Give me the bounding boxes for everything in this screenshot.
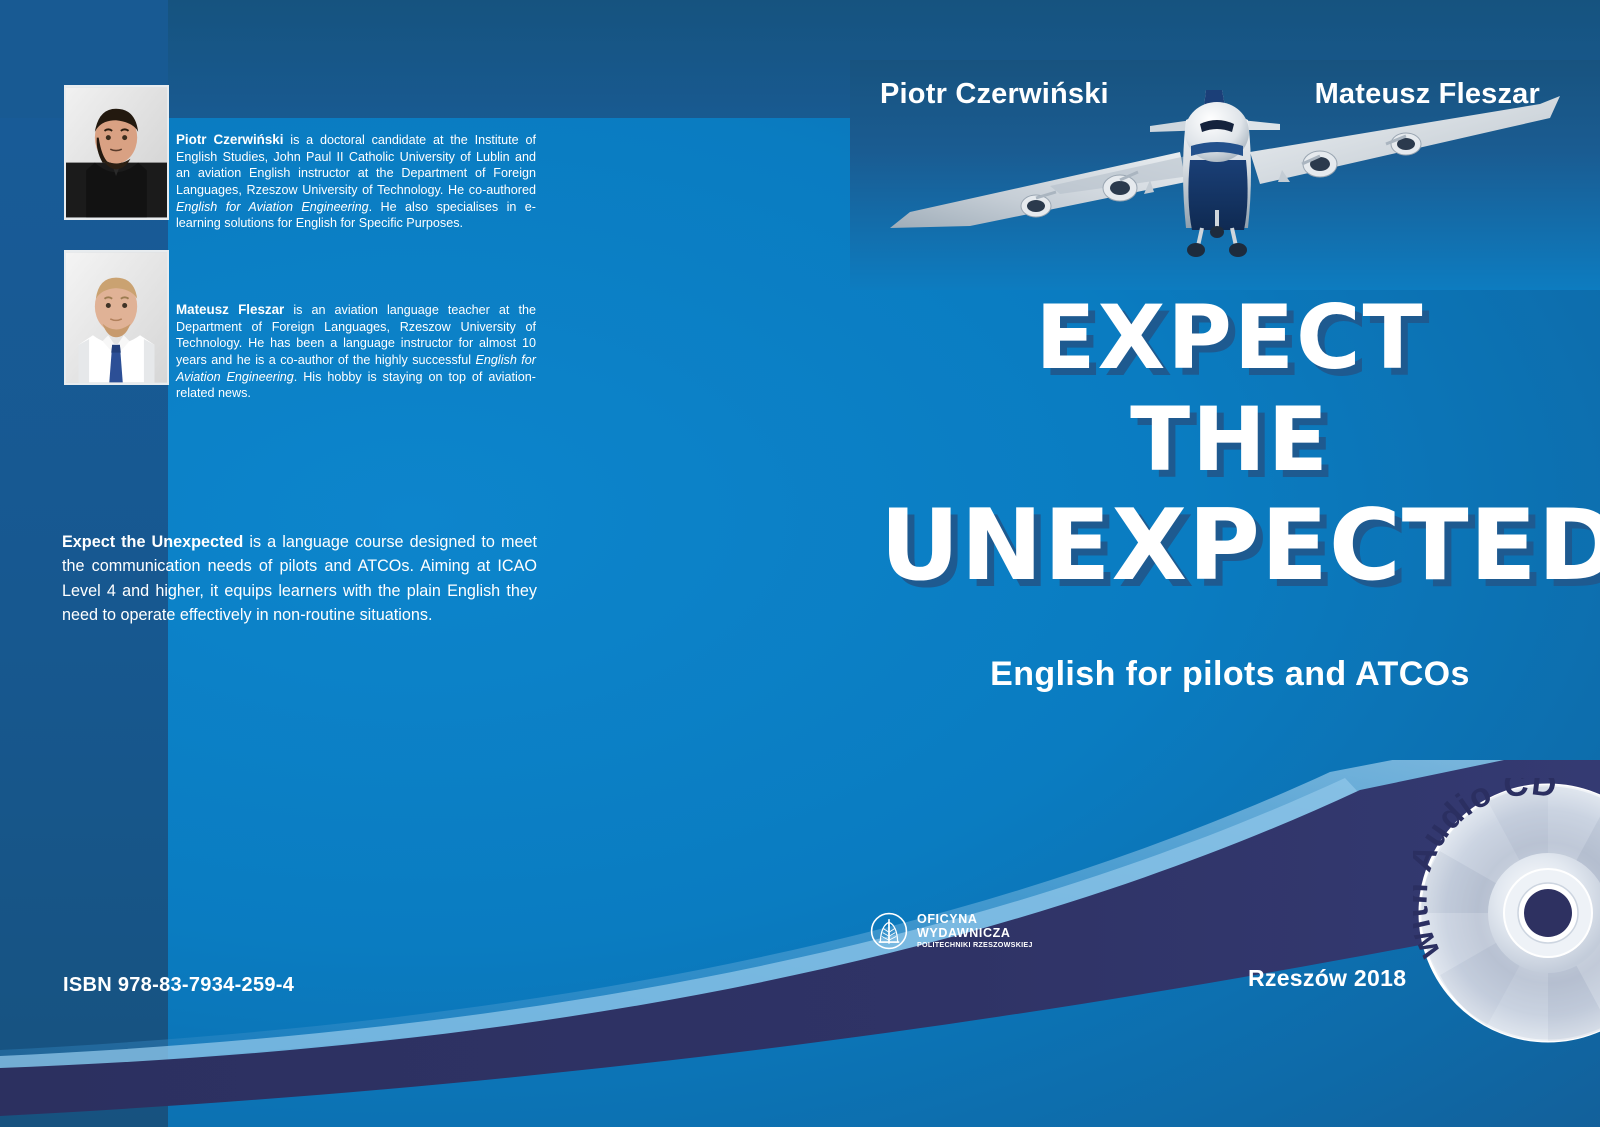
publisher-name: OFICYNA WYDAWNICZA POLITECHNIKI RZESZOWS… <box>917 913 1033 949</box>
publisher-line-2: WYDAWNICZA <box>917 927 1033 941</box>
book-title: EXPECT THE UNEXPECTED <box>880 296 1580 593</box>
publisher-line-3: POLITECHNIKI RZESZOWSKIEJ <box>917 941 1033 949</box>
publisher-logo: OFICYNA WYDAWNICZA POLITECHNIKI RZESZOWS… <box>870 912 1033 950</box>
place-and-year: Rzeszów 2018 <box>1248 965 1406 992</box>
author-bio-1-italic: English for Aviation Engineering <box>176 200 369 214</box>
title-line-3: UNEXPECTED <box>880 499 1580 593</box>
author-bio-1: Piotr Czerwiński is a doctoral candidate… <box>176 131 536 232</box>
title-line-2: THE <box>880 398 1580 482</box>
author-photo-1 <box>64 85 169 220</box>
bottom-wave-graphic <box>0 760 1600 1127</box>
audio-cd-badge: with Audio CD <box>1413 778 1600 1048</box>
author-bio-2: Mateusz Fleszar is an aviation language … <box>176 301 536 402</box>
blurb-lead: Expect the Unexpected <box>62 533 243 551</box>
book-subtitle: English for pilots and ATCOs <box>880 655 1580 694</box>
book-cover: Piotr Czerwiński Mateusz Fleszar EXPECT … <box>0 0 1600 1127</box>
publisher-line-1: OFICYNA <box>917 913 1033 927</box>
title-line-1: EXPECT <box>880 296 1580 380</box>
author-bio-1-name: Piotr Czerwiński <box>176 132 283 147</box>
compact-disc-icon: with Audio CD <box>1413 778 1600 1048</box>
author-photo-2 <box>64 250 169 385</box>
portrait-illustration-1 <box>66 87 167 218</box>
book-blurb: Expect the Unexpected is a language cour… <box>62 530 537 627</box>
portrait-illustration-2 <box>66 252 167 383</box>
publisher-emblem-icon <box>870 912 908 950</box>
airplane-photo <box>850 60 1600 290</box>
author-bio-2-name: Mateusz Fleszar <box>176 302 284 317</box>
airplane-illustration <box>850 60 1600 290</box>
